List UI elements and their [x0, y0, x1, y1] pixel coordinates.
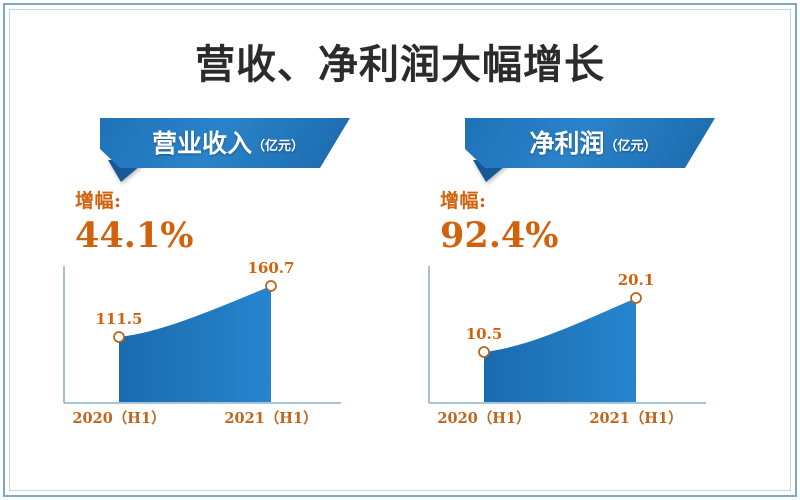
infographic-page: 营收、净利润大幅增长 营业收入（亿元） 增幅: 44.1% — [0, 0, 800, 500]
data-point-marker-2020 — [114, 332, 124, 342]
category-label-2020: 2020（H1） — [437, 409, 530, 427]
banner-title-net-profit: 净利润 — [529, 129, 604, 158]
banner-body: 营业收入（亿元） — [100, 118, 350, 168]
data-point-marker-2021 — [266, 281, 276, 291]
data-point-marker-2020 — [479, 347, 489, 357]
panel-net-profit: 净利润（亿元） 增幅: 92.4% — [410, 118, 770, 458]
category-label-2021: 2021（H1） — [224, 409, 317, 427]
area-series-revenue — [119, 286, 271, 402]
banner-revenue: 营业收入（亿元） — [100, 118, 350, 180]
category-label-2021: 2021（H1） — [589, 409, 682, 427]
data-point-marker-2021 — [631, 293, 641, 303]
value-label-2020: 10.5 — [466, 325, 503, 343]
banner-net-profit: 净利润（亿元） — [465, 118, 715, 180]
growth-value-revenue: 44.1% — [75, 218, 194, 253]
growth-label-revenue: 增幅: — [75, 192, 194, 211]
growth-block-net-profit: 增幅: 92.4% — [440, 192, 559, 253]
panel-revenue: 营业收入（亿元） 增幅: 44.1% — [45, 118, 405, 458]
value-label-2021: 160.7 — [248, 259, 295, 277]
banner-unit-revenue: （亿元） — [252, 139, 304, 154]
chart-net-profit: 10.5 20.1 2020（H1） 2021（H1） — [418, 256, 718, 428]
value-label-2020: 111.5 — [96, 310, 143, 328]
growth-label-net-profit: 增幅: — [440, 192, 559, 211]
growth-value-net-profit: 92.4% — [440, 218, 559, 253]
banner-body: 净利润（亿元） — [465, 118, 715, 168]
banner-label-group: 净利润（亿元） — [523, 131, 656, 156]
category-label-2020: 2020（H1） — [72, 409, 165, 427]
chart-revenue: 111.5 160.7 2020（H1） 2021（H1） — [53, 256, 353, 428]
area-series-net-profit — [484, 298, 636, 402]
banner-title-revenue: 营业收入 — [152, 129, 252, 158]
banner-label-group: 营业收入（亿元） — [146, 131, 304, 156]
growth-block-revenue: 增幅: 44.1% — [75, 192, 194, 253]
value-label-2021: 20.1 — [618, 271, 655, 289]
page-title: 营收、净利润大幅增长 — [0, 32, 800, 90]
banner-unit-net-profit: （亿元） — [605, 139, 657, 154]
